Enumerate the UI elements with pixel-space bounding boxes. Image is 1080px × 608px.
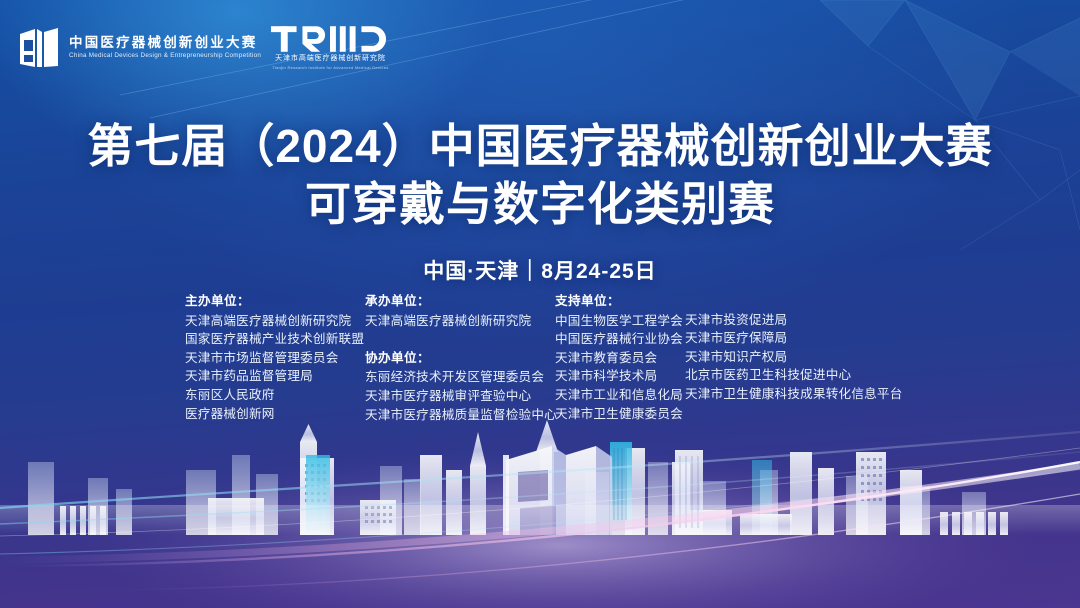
institute-name-en: Tianjin Research Institute for Advanced … <box>272 64 388 71</box>
organizer-item: 天津高端医疗器械创新研究院 <box>365 312 555 331</box>
organizer-item: 医疗器械创新网 <box>185 405 365 424</box>
competition-name-en: China Medical Devices Design & Entrepren… <box>69 51 261 60</box>
organizer-item: 天津市卫生健康科技成果转化信息平台 <box>685 385 905 404</box>
title-line-1: 第七届（2024）中国医疗器械创新创业大赛 <box>0 118 1080 174</box>
organizer-item: 天津市医疗器械审评查验中心 <box>365 387 555 406</box>
organizer-column-host: 主办单位： 天津高端医疗器械创新研究院 国家医疗器械产业技术创新联盟 天津市市场… <box>185 292 365 423</box>
supporters-right: 天津市投资促进局 天津市医疗保障局 天津市知识产权局 北京市医药卫生科技促进中心… <box>685 292 905 423</box>
organizer-item: 中国医疗器械行业协会 <box>555 330 685 349</box>
organizer-item: 国家医疗器械产业技术创新联盟 <box>185 330 365 349</box>
organizer-column-organizer: 承办单位： 天津高端医疗器械创新研究院 协办单位： 东丽经济技术开发区管理委员会… <box>365 292 555 424</box>
organizer-heading: 承办单位： <box>365 292 555 311</box>
organizer-item: 天津市工业和信息化局 <box>555 386 685 405</box>
trimd-wordmark-icon <box>271 24 389 54</box>
institute-logo: 天津市高端医疗器械创新研究院 Tianjin Research Institut… <box>271 24 389 71</box>
organizer-heading: 协办单位： <box>365 349 555 368</box>
poster-canvas: 中国医疗器械创新创业大赛 China Medical Devices Desig… <box>0 0 1080 608</box>
spacer <box>685 292 905 311</box>
organizer-section: 主办单位： 天津高端医疗器械创新研究院 国家医疗器械产业技术创新联盟 天津市市场… <box>185 292 925 424</box>
center-open-door-emblem <box>503 446 612 545</box>
organizer-item: 天津市科学技术局 <box>555 367 685 386</box>
organizer-heading: 主办单位： <box>185 292 365 311</box>
organizer-item: 天津市医疗保障局 <box>685 329 905 348</box>
organizer-item: 天津市卫生健康委员会 <box>555 405 685 424</box>
institute-name-cn: 天津市高端医疗器械创新研究院 <box>275 54 386 64</box>
organizer-item: 天津市知识产权局 <box>685 348 905 367</box>
organizer-item: 天津市医疗器械质量监督检验中心 <box>365 406 555 425</box>
organizer-item: 北京市医药卫生科技促进中心 <box>685 366 905 385</box>
organizer-item: 天津市教育委员会 <box>555 349 685 368</box>
organizer-column-supporters: 支持单位： 中国生物医学工程学会 中国医疗器械行业协会 天津市教育委员会 天津市… <box>555 292 905 423</box>
organizer-item: 东丽区人民政府 <box>185 386 365 405</box>
title-line-2: 可穿戴与数字化类别赛 <box>0 174 1080 234</box>
organizer-item: 天津市药品监督管理局 <box>185 367 365 386</box>
open-door-icon <box>18 26 60 70</box>
spacer <box>365 330 555 349</box>
organizer-item: 天津高端医疗器械创新研究院 <box>185 312 365 331</box>
organizer-item: 中国生物医学工程学会 <box>555 312 685 331</box>
organizer-item: 东丽经济技术开发区管理委员会 <box>365 368 555 387</box>
organizer-heading: 支持单位： <box>555 292 685 311</box>
supporters-left: 支持单位： 中国生物医学工程学会 中国医疗器械行业协会 天津市教育委员会 天津市… <box>555 292 685 423</box>
organizer-item: 天津市市场监督管理委员会 <box>185 349 365 368</box>
competition-name-cn: 中国医疗器械创新创业大赛 <box>69 35 257 51</box>
logo-bar: 中国医疗器械创新创业大赛 China Medical Devices Desig… <box>18 24 389 71</box>
organizer-item: 天津市投资促进局 <box>685 311 905 330</box>
light-streaks <box>0 432 1080 590</box>
competition-logo: 中国医疗器械创新创业大赛 China Medical Devices Desig… <box>18 26 257 70</box>
poster-subtitle: 中国·天津｜8月24-25日 <box>0 255 1080 285</box>
poster-title: 第七届（2024）中国医疗器械创新创业大赛 可穿戴与数字化类别赛 <box>0 118 1080 234</box>
